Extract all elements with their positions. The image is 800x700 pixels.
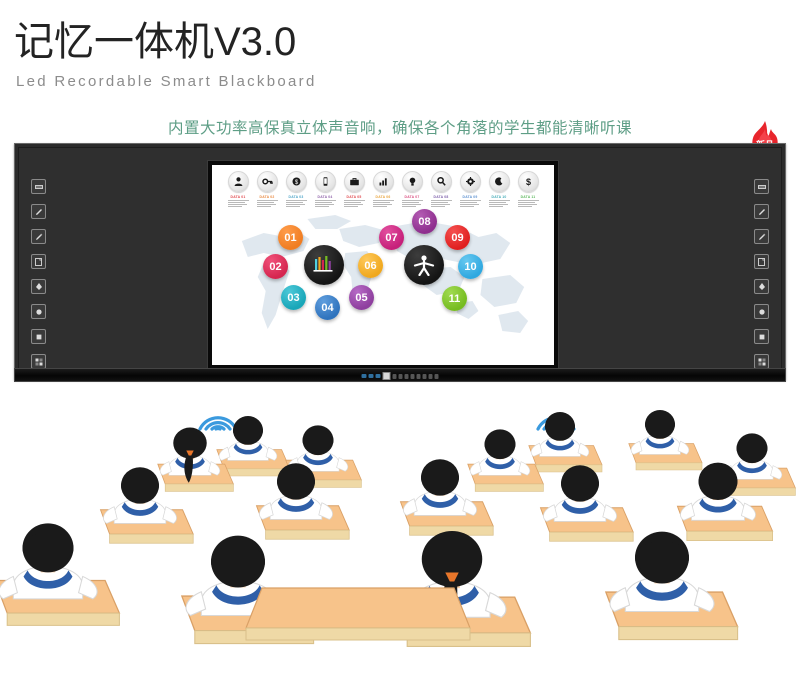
pen-icon[interactable] (754, 204, 769, 219)
feature-node-chart[interactable] (304, 245, 344, 285)
data-item-lines (315, 200, 336, 208)
key-icon[interactable] (257, 171, 278, 192)
right-tool-rail[interactable] (754, 179, 769, 369)
data-icon-strip: DATA 01 DATA 02 $ DATA 03 (212, 171, 554, 208)
data-item[interactable]: DATA 02 (253, 171, 281, 208)
square-icon[interactable] (754, 329, 769, 344)
control-button[interactable] (405, 374, 409, 379)
classroom-illustration (0, 382, 800, 700)
page-subtitle: Led Recordable Smart Blackboard (16, 72, 317, 92)
eraser-icon[interactable] (31, 179, 46, 194)
page-title-cn: 记忆一体机 (14, 20, 214, 64)
shape-icon[interactable] (31, 279, 46, 294)
marker-icon[interactable] (754, 229, 769, 244)
data-node-label: 01 (284, 232, 296, 244)
dollar-icon[interactable]: $ (518, 171, 539, 192)
display-screen-frame[interactable]: DATA 01 DATA 02 $ DATA 03 (207, 160, 559, 370)
data-item-lines (344, 200, 365, 208)
data-node-label: 08 (418, 216, 430, 228)
data-item-label: DATA 09 (463, 195, 478, 199)
control-button[interactable] (411, 374, 415, 379)
page-title-version: V3.0 (214, 20, 296, 64)
bar-chart-icon (313, 255, 335, 275)
data-node-09[interactable]: 09 (445, 225, 470, 250)
circle-icon[interactable] (31, 304, 46, 319)
data-item[interactable]: DATA 04 (311, 171, 339, 208)
control-strip[interactable] (362, 372, 439, 380)
data-node-01[interactable]: 01 (278, 225, 303, 250)
data-item[interactable]: $ DATA 11 (514, 171, 542, 208)
data-node-label: 05 (355, 292, 367, 304)
data-node-label: 04 (321, 302, 333, 314)
feature-node-person[interactable] (404, 245, 444, 285)
blackboard-bottom-bar (14, 368, 786, 382)
moon-icon[interactable] (489, 171, 510, 192)
status-led (369, 374, 374, 378)
data-node-10[interactable]: 10 (458, 254, 483, 279)
data-node-label: 10 (464, 261, 476, 273)
empty-desk (246, 588, 470, 640)
data-node-label: 06 (364, 260, 376, 272)
home-button[interactable] (383, 372, 391, 380)
user-icon[interactable] (228, 171, 249, 192)
data-item-lines (228, 200, 249, 208)
pen-icon[interactable] (31, 204, 46, 219)
eraser-icon[interactable] (754, 179, 769, 194)
data-node-label: 09 (451, 232, 463, 244)
data-item-lines (431, 200, 452, 208)
bulb-icon[interactable] (402, 171, 423, 192)
shape-icon[interactable] (754, 279, 769, 294)
data-node-label: 03 (287, 292, 299, 304)
classroom-scene (0, 382, 800, 700)
data-item[interactable]: DATA 05 (340, 171, 368, 208)
data-node-06[interactable]: 06 (358, 253, 383, 278)
data-node-05[interactable]: 05 (349, 285, 374, 310)
control-button[interactable] (399, 374, 403, 379)
data-item-label: DATA 01 (231, 195, 246, 199)
data-item-label: DATA 10 (492, 195, 507, 199)
data-item-lines (373, 200, 394, 208)
page-icon[interactable] (754, 254, 769, 269)
left-tool-rail[interactable] (31, 179, 46, 369)
data-item-lines (286, 200, 307, 208)
data-item-lines (257, 200, 278, 208)
person-icon (413, 254, 435, 276)
control-button[interactable] (393, 374, 397, 379)
status-led (376, 374, 381, 378)
data-item-label: DATA 06 (376, 195, 391, 199)
display-screen[interactable]: DATA 01 DATA 02 $ DATA 03 (212, 165, 554, 365)
data-item-label: DATA 04 (318, 195, 333, 199)
product-page: 记忆一体机V3.0 Led Recordable Smart Blackboar… (0, 0, 800, 700)
page-icon[interactable] (31, 254, 46, 269)
data-item-lines (518, 200, 539, 208)
control-button[interactable] (417, 374, 421, 379)
data-item-lines (489, 200, 510, 208)
data-item-lines (460, 200, 481, 208)
data-node-label: 11 (449, 293, 461, 305)
circle-icon[interactable] (754, 304, 769, 319)
search-icon[interactable] (431, 171, 452, 192)
marker-icon[interactable] (31, 229, 46, 244)
grid-icon[interactable] (754, 354, 769, 369)
control-button[interactable] (435, 374, 439, 379)
data-item-label: DATA 08 (434, 195, 449, 199)
chart-icon[interactable] (373, 171, 394, 192)
data-node-03[interactable]: 03 (281, 285, 306, 310)
square-icon[interactable] (31, 329, 46, 344)
data-node-label: 07 (385, 232, 397, 244)
mobile-icon[interactable] (315, 171, 336, 192)
page-header: 记忆一体机V3.0 Led Recordable Smart Blackboar… (0, 0, 800, 112)
data-node-label: 02 (269, 261, 281, 273)
data-item-label: DATA 11 (521, 195, 536, 199)
svg-text:$: $ (525, 177, 530, 187)
data-item-label: DATA 03 (289, 195, 304, 199)
status-led (362, 374, 367, 378)
gear-icon[interactable] (460, 171, 481, 192)
data-item[interactable]: DATA 08 (427, 171, 455, 208)
data-item-label: DATA 07 (405, 195, 420, 199)
page-title: 记忆一体机V3.0 (14, 18, 296, 66)
data-item-label: DATA 02 (260, 195, 275, 199)
control-button[interactable] (429, 374, 433, 379)
data-node-07[interactable]: 07 (379, 225, 404, 250)
data-item[interactable]: DATA 09 (456, 171, 484, 208)
control-button[interactable] (423, 374, 427, 379)
data-node-08[interactable]: 08 (412, 209, 437, 234)
data-item[interactable]: DATA 07 (398, 171, 426, 208)
briefcase-icon[interactable] (344, 171, 365, 192)
data-node-02[interactable]: 02 (263, 254, 288, 279)
money-icon[interactable]: $ (286, 171, 307, 192)
data-node-11[interactable]: 11 (442, 286, 467, 311)
grid-icon[interactable] (31, 354, 46, 369)
data-item-label: DATA 05 (347, 195, 362, 199)
data-item[interactable]: DATA 01 (224, 171, 252, 208)
data-item-lines (402, 200, 423, 208)
data-item[interactable]: DATA 10 (485, 171, 513, 208)
data-item[interactable]: DATA 06 (369, 171, 397, 208)
data-item[interactable]: $ DATA 03 (282, 171, 310, 208)
feature-tagline: 内置大功率高保真立体声音响，确保各个角落的学生都能清晰听课 (0, 118, 800, 140)
data-node-04[interactable]: 04 (315, 295, 340, 320)
